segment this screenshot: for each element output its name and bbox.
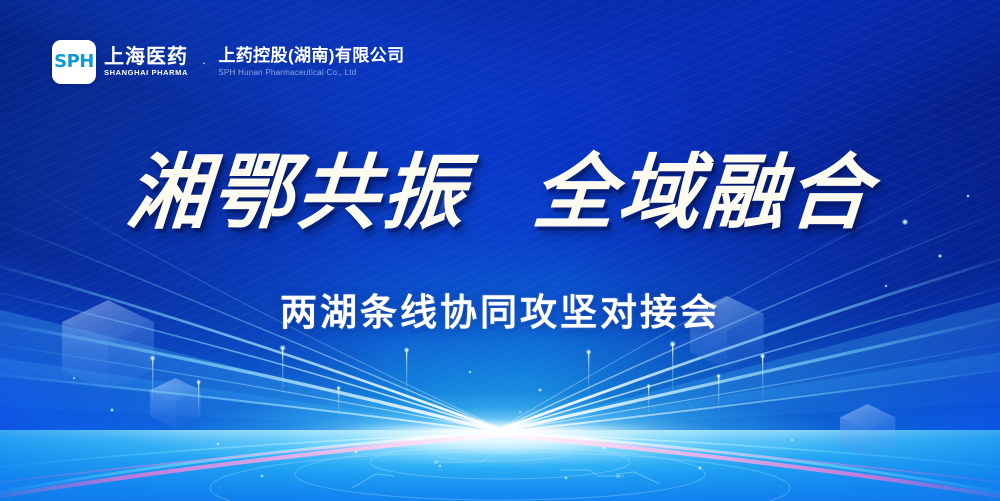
- subsidiary-name-en: SPH Hunan Pharmaceutical Co., Ltd: [218, 68, 404, 78]
- brand-name-cn: 上海医药: [104, 47, 188, 68]
- sph-logo-mark: SPH: [54, 53, 94, 71]
- hero-title: 湘鄂共振 全域融合: [0, 152, 1000, 234]
- hero-title-left: 湘鄂共振: [124, 152, 470, 234]
- subsidiary-name-block: 上药控股(湖南)有限公司 SPH Hunan Pharmaceutical Co…: [218, 47, 404, 77]
- brand-header: SPH 上海医药 SHANGHAI PHARMA · 上药控股(湖南)有限公司 …: [52, 40, 404, 84]
- hero-subtitle: 两湖条线协同攻坚对接会: [0, 294, 1000, 331]
- subsidiary-name-cn: 上药控股(湖南)有限公司: [218, 47, 404, 66]
- horizon-core-flare: [330, 420, 670, 442]
- brand-name-block: 上海医药 SHANGHAI PHARMA: [104, 47, 188, 77]
- sph-logo-badge: SPH: [52, 40, 96, 84]
- brand-name-en: SHANGHAI PHARMA: [104, 69, 188, 77]
- hero-title-right: 全域融合: [530, 152, 876, 234]
- brand-separator-dot: ·: [202, 55, 206, 70]
- event-banner: SPH 上海医药 SHANGHAI PHARMA · 上药控股(湖南)有限公司 …: [0, 0, 1000, 501]
